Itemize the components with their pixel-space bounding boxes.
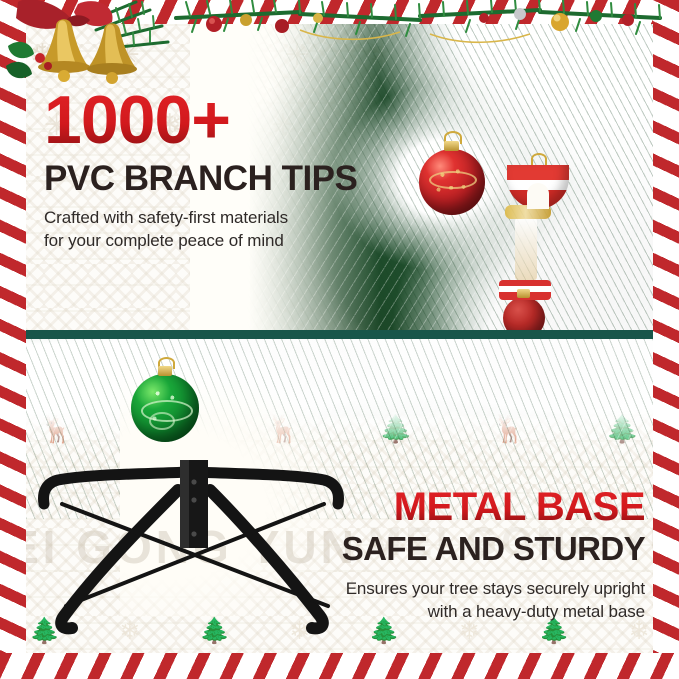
bottom-feature-text: METAL BASE SAFE AND STURDY Ensures your … bbox=[342, 488, 645, 624]
top-body-line2: for your complete peace of mind bbox=[44, 230, 357, 253]
bottom-subhead: SAFE AND STURDY bbox=[342, 530, 645, 568]
bottom-headline: METAL BASE bbox=[342, 488, 645, 526]
stand-bolt bbox=[191, 497, 196, 502]
candy-cane-border-right bbox=[653, 0, 679, 679]
product-infographic: ❄✳❄✳❄✳❄✳ ✳❄✳❄✳❄ 🦌🌲🦌🌲🦌🌲 🌲❄🌲❄🌲❄🌲❄ EI GONG … bbox=[0, 0, 679, 679]
ornament-ribbon bbox=[515, 218, 537, 280]
top-subhead: PVC BRANCH TIPS bbox=[44, 161, 357, 198]
stand-bolt bbox=[191, 479, 196, 484]
stand-bolt bbox=[191, 531, 196, 536]
section-divider bbox=[0, 330, 679, 339]
ornament-cap bbox=[158, 366, 172, 376]
striped-ornament-notch bbox=[527, 183, 549, 209]
top-body-line1: Crafted with safety-first materials bbox=[44, 207, 357, 230]
ornament-cap bbox=[444, 141, 459, 151]
bottom-body-line2: with a heavy-duty metal base bbox=[342, 601, 645, 624]
top-headline: 1000+ bbox=[44, 88, 357, 153]
bottom-body-line1: Ensures your tree stays securely upright bbox=[342, 578, 645, 601]
ornament-hook-icon bbox=[531, 153, 547, 165]
top-feature-text: 1000+ PVC BRANCH TIPS Crafted with safet… bbox=[44, 88, 357, 253]
red-glitter-bauble bbox=[419, 149, 485, 215]
stand-post-highlight bbox=[180, 460, 189, 548]
ornament-cap bbox=[517, 289, 530, 298]
candy-cane-border-bottom bbox=[0, 653, 679, 679]
metal-tree-stand bbox=[28, 430, 358, 635]
